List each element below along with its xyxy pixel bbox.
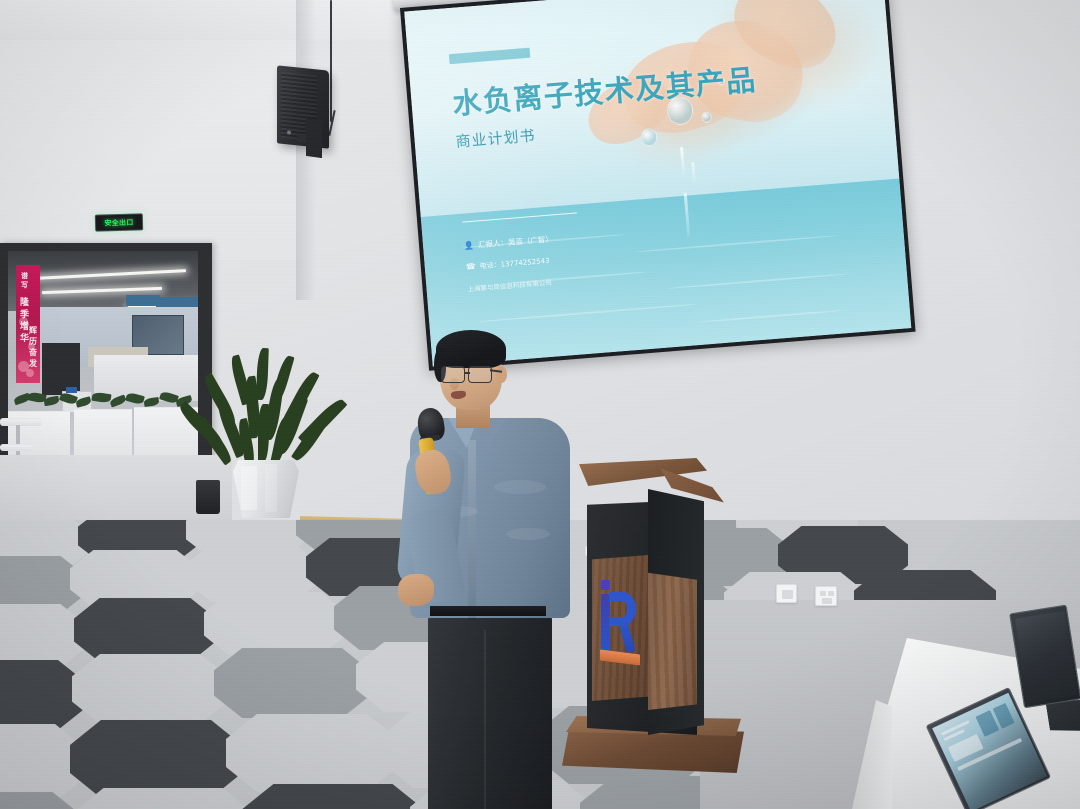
screen-frame: 水负离子技术及其产品 商业计划书 👤 汇报人：吴亚（广智） ☎ 电话：13774… (400, 0, 916, 371)
red-hanging-banner: 谱 写 隆 季 增 华 辉 历 奋 发 (16, 265, 40, 383)
speaker-led-icon (287, 130, 291, 134)
potted-palm-foliage (212, 348, 322, 468)
projection-screen: 水负离子技术及其产品 商业计划书 👤 汇报人：吴亚（广智） ☎ 电话：13774… (399, 0, 920, 373)
glasses-lens-left (441, 366, 465, 383)
ceiling-edge (0, 0, 420, 40)
presenter-ear (496, 366, 507, 383)
presenter-belt (430, 606, 546, 616)
white-table-2 (0, 444, 32, 451)
logo-accent-bar (600, 650, 640, 666)
laptop-screen[interactable] (1015, 611, 1078, 703)
plant-pot (233, 460, 299, 518)
exit-sign-label: 安全出口 (104, 217, 133, 228)
person-icon: 👤 (464, 241, 475, 251)
wall-outlet-right[interactable] (815, 586, 837, 606)
podium-logo (598, 572, 640, 670)
emergency-exit-sign: 安全出口 (95, 213, 143, 231)
white-table (0, 418, 42, 426)
presentation-photo-scene: 谱 写 隆 季 增 华 辉 历 奋 发 (0, 0, 1080, 809)
speaker-cable (330, 0, 332, 122)
wall-outlet-left[interactable] (776, 584, 797, 603)
shirt-placket (468, 440, 476, 620)
glasses-bridge (464, 372, 470, 374)
presenter-lower-hand (398, 574, 434, 606)
logo-leg (618, 620, 635, 653)
speaker-mount-bracket (306, 118, 322, 158)
presenter-hair (436, 330, 506, 368)
glasses-lens-right (468, 366, 492, 383)
presenter (398, 330, 588, 809)
phone-icon: ☎ (465, 262, 476, 272)
wayfinding-sign (126, 295, 160, 306)
podium-right-wood-panel (648, 570, 697, 710)
logo-dot (601, 580, 610, 590)
trouser-crease (484, 630, 486, 809)
presentation-slide: 水负离子技术及其产品 商业计划书 👤 汇报人：吴亚（广智） ☎ 电话：13774… (404, 0, 911, 366)
presenter-trousers (428, 610, 552, 809)
trash-bin (196, 480, 220, 514)
